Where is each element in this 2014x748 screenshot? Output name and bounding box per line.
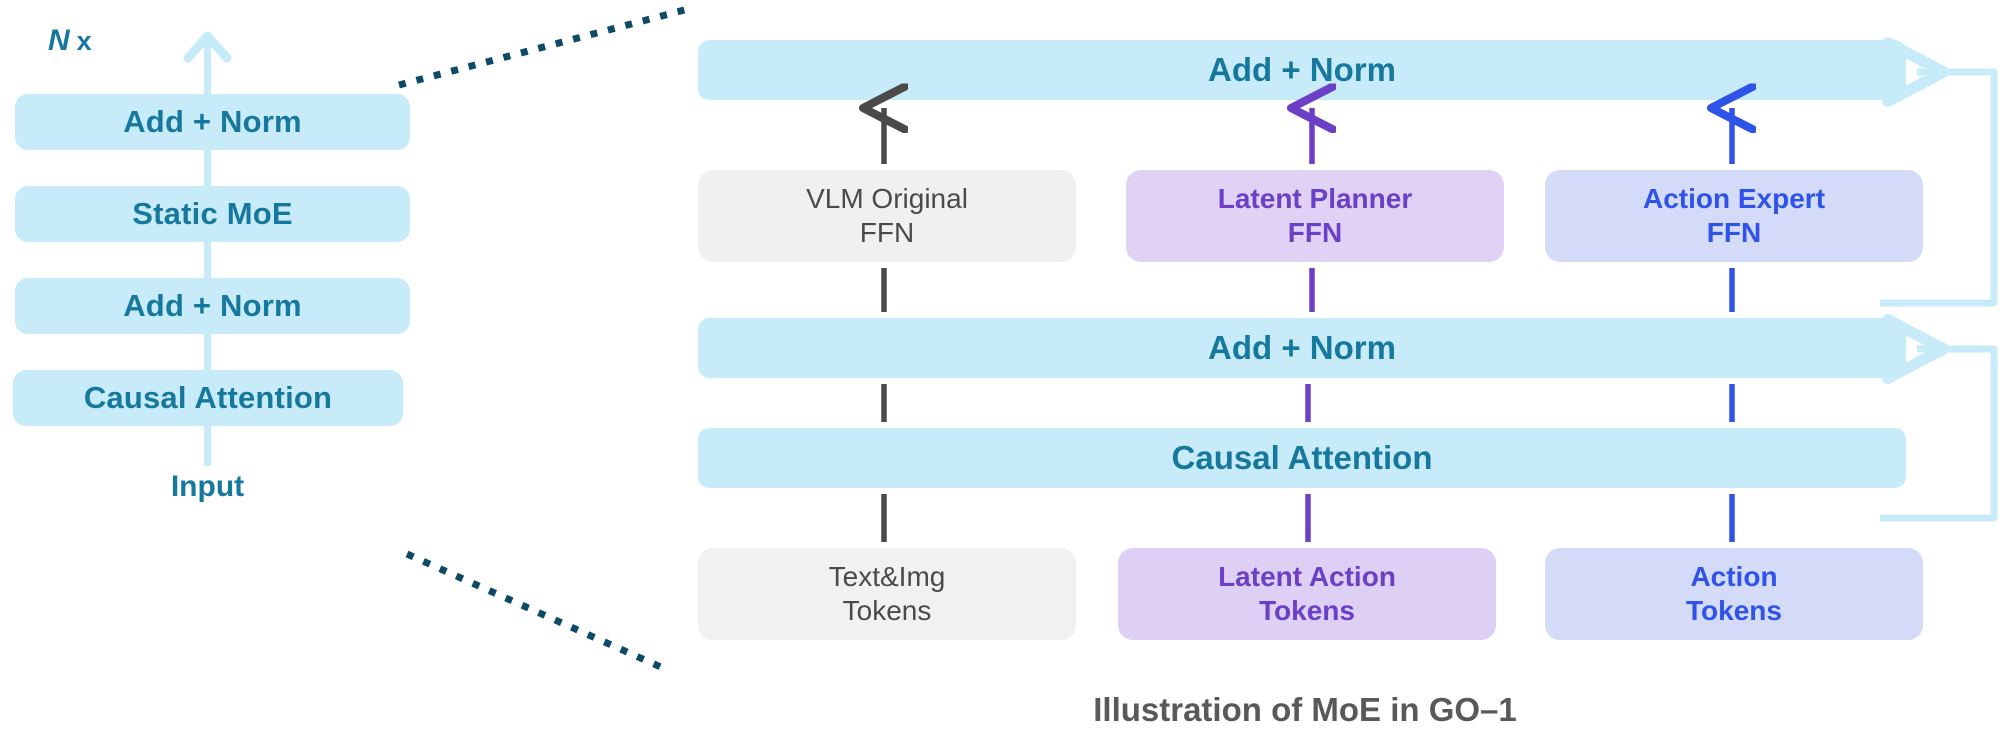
right-bar-label: Add + Norm [1208, 328, 1396, 368]
repeat-count-n: N [48, 24, 70, 57]
expert-label-line2: FFN [860, 216, 914, 250]
expert-label-line2: FFN [1288, 216, 1342, 250]
left-block-label: Add + Norm [123, 103, 302, 141]
right-bar-label: Add + Norm [1208, 50, 1396, 90]
expert-latent-planner-ffn[interactable]: Latent Planner FFN [1126, 170, 1504, 262]
diagram-canvas: Nx Add + Norm Static MoE Add + Norm Caus… [0, 0, 2014, 748]
tokens-label-line1: Text&Img [829, 560, 946, 594]
expert-label-line1: VLM Original [806, 182, 968, 216]
expert-label-line1: Latent Planner [1218, 182, 1412, 216]
expert-label-line1: Action Expert [1643, 182, 1825, 216]
left-block-label: Causal Attention [84, 379, 332, 417]
expert-action-expert-ffn[interactable]: Action Expert FFN [1545, 170, 1923, 262]
dotted-connector-top [399, 8, 692, 85]
input-label-text: Input [171, 470, 244, 503]
figure-caption-text: Illustration of MoE in GO–1 [1093, 691, 1517, 728]
tokens-label-line2: Tokens [1259, 594, 1355, 628]
left-block-add-norm-bottom[interactable]: Add + Norm [15, 278, 410, 334]
tokens-text-img[interactable]: Text&Img Tokens [698, 548, 1076, 640]
left-block-label: Add + Norm [123, 287, 302, 325]
expert-vlm-original-ffn[interactable]: VLM Original FFN [698, 170, 1076, 262]
tokens-action[interactable]: Action Tokens [1545, 548, 1923, 640]
left-block-static-moe[interactable]: Static MoE [15, 186, 410, 242]
tokens-latent-action[interactable]: Latent Action Tokens [1118, 548, 1496, 640]
right-bar-add-norm-middle[interactable]: Add + Norm [698, 318, 1906, 378]
left-block-label: Static MoE [132, 195, 292, 233]
left-block-add-norm-top[interactable]: Add + Norm [15, 94, 410, 150]
repeat-count-x: x [77, 26, 92, 56]
repeat-count-label: Nx [48, 24, 92, 58]
tokens-label-line2: Tokens [843, 594, 932, 628]
tokens-label-line2: Tokens [1686, 594, 1782, 628]
left-block-causal-attention[interactable]: Causal Attention [13, 370, 403, 426]
expert-label-line2: FFN [1707, 216, 1761, 250]
right-bar-causal-attention[interactable]: Causal Attention [698, 428, 1906, 488]
right-bar-label: Causal Attention [1172, 438, 1433, 478]
right-bar-add-norm-top[interactable]: Add + Norm [698, 40, 1906, 100]
input-label: Input [120, 470, 295, 504]
tokens-label-line1: Action [1690, 560, 1777, 594]
dotted-connector-bottom [407, 554, 663, 668]
tokens-label-line1: Latent Action [1218, 560, 1396, 594]
figure-caption: Illustration of MoE in GO–1 [700, 691, 1910, 729]
